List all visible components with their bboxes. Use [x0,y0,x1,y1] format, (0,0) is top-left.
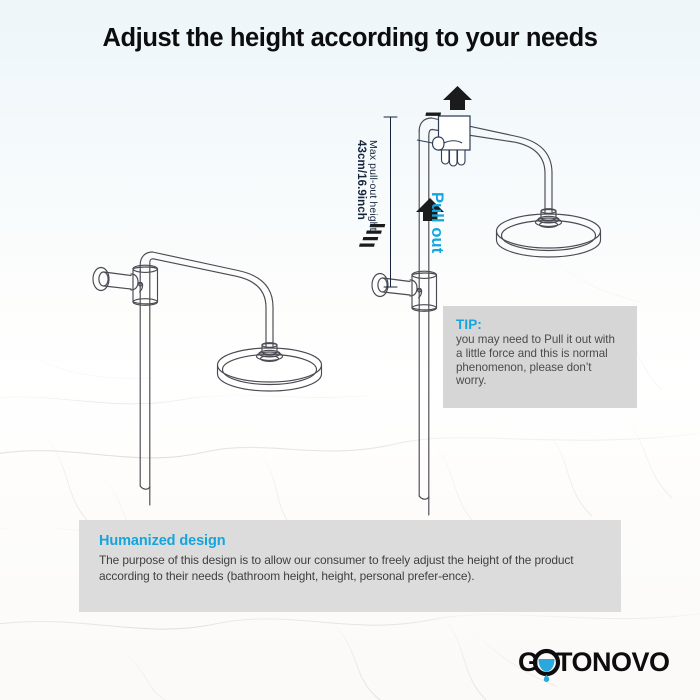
max-pullout-height-label: Max pull-out height: 43cm/16.9inch [352,140,378,260]
humanized-design-callout: Humanized design The purpose of this des… [79,520,621,612]
page-title: Adjust the height according to your need… [0,24,700,53]
up-arrow-top [425,86,472,116]
humanized-design-body: The purpose of this design is to allow o… [99,553,601,584]
dimension-label-line2: 43cm/16.9inch [354,140,366,260]
tip-body: you may need to Pull it out with a littl… [456,333,624,388]
humanized-design-heading: Humanized design [99,533,601,549]
tip-heading: TIP: [456,317,624,332]
hand-grip-icon [417,116,470,166]
dimension-label-line1: Max pull-out height: [367,140,378,260]
brand-text-part2: TONOVO [556,647,670,677]
infographic-stage: Adjust the height according to your need… [0,0,700,700]
tip-callout: TIP: you may need to Pull it out with a … [443,306,637,408]
brand-logo: G TONOVO [518,646,678,682]
pull-out-label: Pull out [427,192,446,253]
